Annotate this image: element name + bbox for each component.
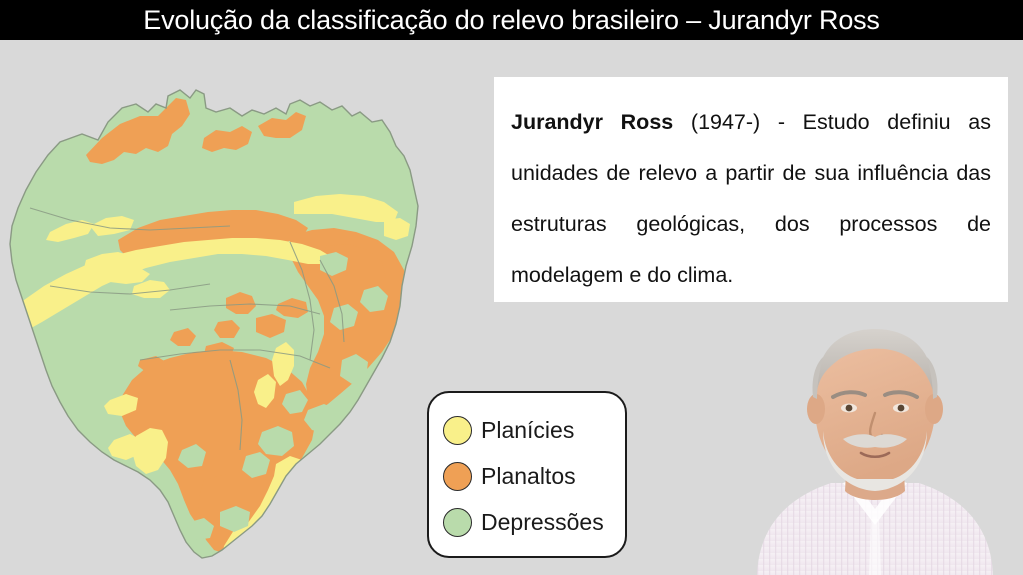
description-body: (1947-) - Estudo definiu as unidades de … [511, 110, 991, 287]
legend-label-depressoes: Depressões [481, 511, 604, 534]
person-name: Jurandyr Ross [511, 110, 673, 134]
portrait-pupil-left [846, 405, 853, 412]
legend-swatch-planicies [443, 416, 472, 445]
legend-swatch-depressoes [443, 508, 472, 537]
map-regions [0, 60, 420, 575]
slide-canvas: Evolução da classificação do relevo bras… [0, 0, 1023, 575]
map-legend: Planícies Planaltos Depressões [427, 391, 627, 558]
title-bar: Evolução da classificação do relevo bras… [0, 0, 1023, 40]
page-title: Evolução da classificação do relevo bras… [143, 0, 879, 40]
portrait-pupil-right [898, 405, 905, 412]
legend-label-planaltos: Planaltos [481, 465, 576, 488]
portrait-placket [869, 519, 881, 575]
legend-label-planicies: Planícies [481, 419, 574, 442]
brazil-relief-map [0, 60, 420, 575]
legend-item-planaltos[interactable]: Planaltos [429, 453, 625, 499]
legend-item-planicies[interactable]: Planícies [429, 407, 625, 453]
legend-swatch-planaltos [443, 462, 472, 491]
description-paragraph: Jurandyr Ross (1947-) - Estudo definiu a… [511, 97, 991, 301]
description-card: Jurandyr Ross (1947-) - Estudo definiu a… [494, 77, 1008, 302]
jurandyr-ross-photo [727, 313, 1023, 575]
legend-item-depressoes[interactable]: Depressões [429, 499, 625, 545]
